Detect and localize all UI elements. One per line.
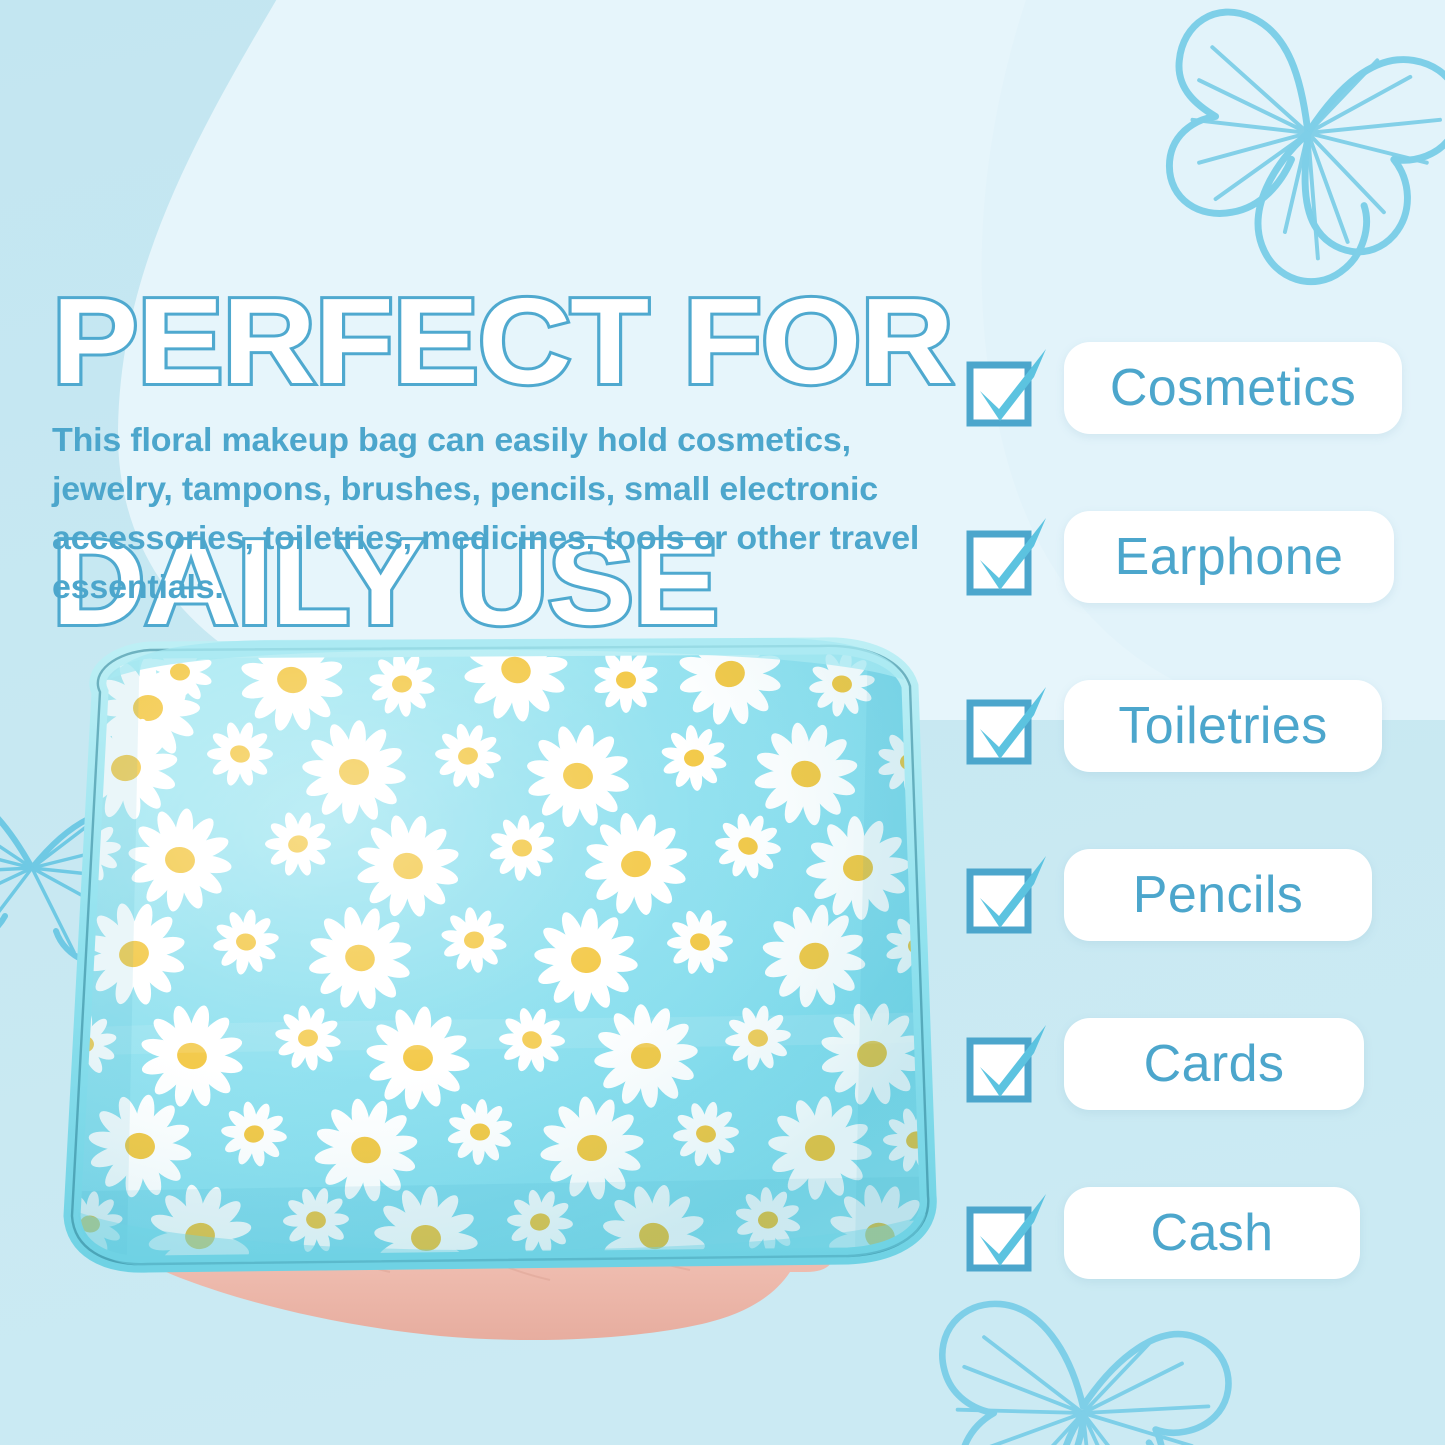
- checklist-pill[interactable]: Cosmetics: [1064, 342, 1402, 434]
- checklist-pill[interactable]: Earphone: [1064, 511, 1394, 603]
- checkbox-checked-icon[interactable]: [966, 516, 1052, 598]
- checklist-item[interactable]: Cash: [966, 1179, 1418, 1287]
- checkbox-checked-icon[interactable]: [966, 1192, 1052, 1274]
- checkbox-checked-icon[interactable]: [966, 854, 1052, 936]
- checklist-item[interactable]: Toiletries: [966, 672, 1418, 780]
- headline-line-1: PERFECT FOR: [52, 281, 1048, 402]
- checklist-pill[interactable]: Toiletries: [1064, 680, 1382, 772]
- feature-checklist: Cosmetics Earphone Toiletr: [966, 334, 1418, 1287]
- makeup-bag: [30, 636, 960, 1296]
- checklist-item-label: Cards: [1144, 1038, 1285, 1090]
- checkbox-checked-icon[interactable]: [966, 685, 1052, 767]
- checklist-item[interactable]: Earphone: [966, 503, 1418, 611]
- checklist-item[interactable]: Pencils: [966, 841, 1418, 949]
- description-text: This floral makeup bag can easily hold c…: [52, 416, 971, 613]
- checklist-item-label: Earphone: [1115, 531, 1344, 583]
- checklist-item-label: Pencils: [1133, 869, 1303, 921]
- checklist-pill[interactable]: Cards: [1064, 1018, 1364, 1110]
- checklist-pill[interactable]: Cash: [1064, 1187, 1360, 1279]
- infographic-canvas: PERFECT FOR DAILY USE This floral makeup…: [0, 0, 1445, 1445]
- checklist-item-label: Cosmetics: [1110, 362, 1356, 414]
- product-photo: [30, 636, 960, 1336]
- checklist-item-label: Toiletries: [1118, 700, 1327, 752]
- checkbox-checked-icon[interactable]: [966, 347, 1052, 429]
- checklist-pill[interactable]: Pencils: [1064, 849, 1372, 941]
- bag-body: [30, 636, 960, 1296]
- checkbox-checked-icon[interactable]: [966, 1023, 1052, 1105]
- checklist-item-label: Cash: [1151, 1207, 1274, 1259]
- checklist-item[interactable]: Cosmetics: [966, 334, 1418, 442]
- checklist-item[interactable]: Cards: [966, 1010, 1418, 1118]
